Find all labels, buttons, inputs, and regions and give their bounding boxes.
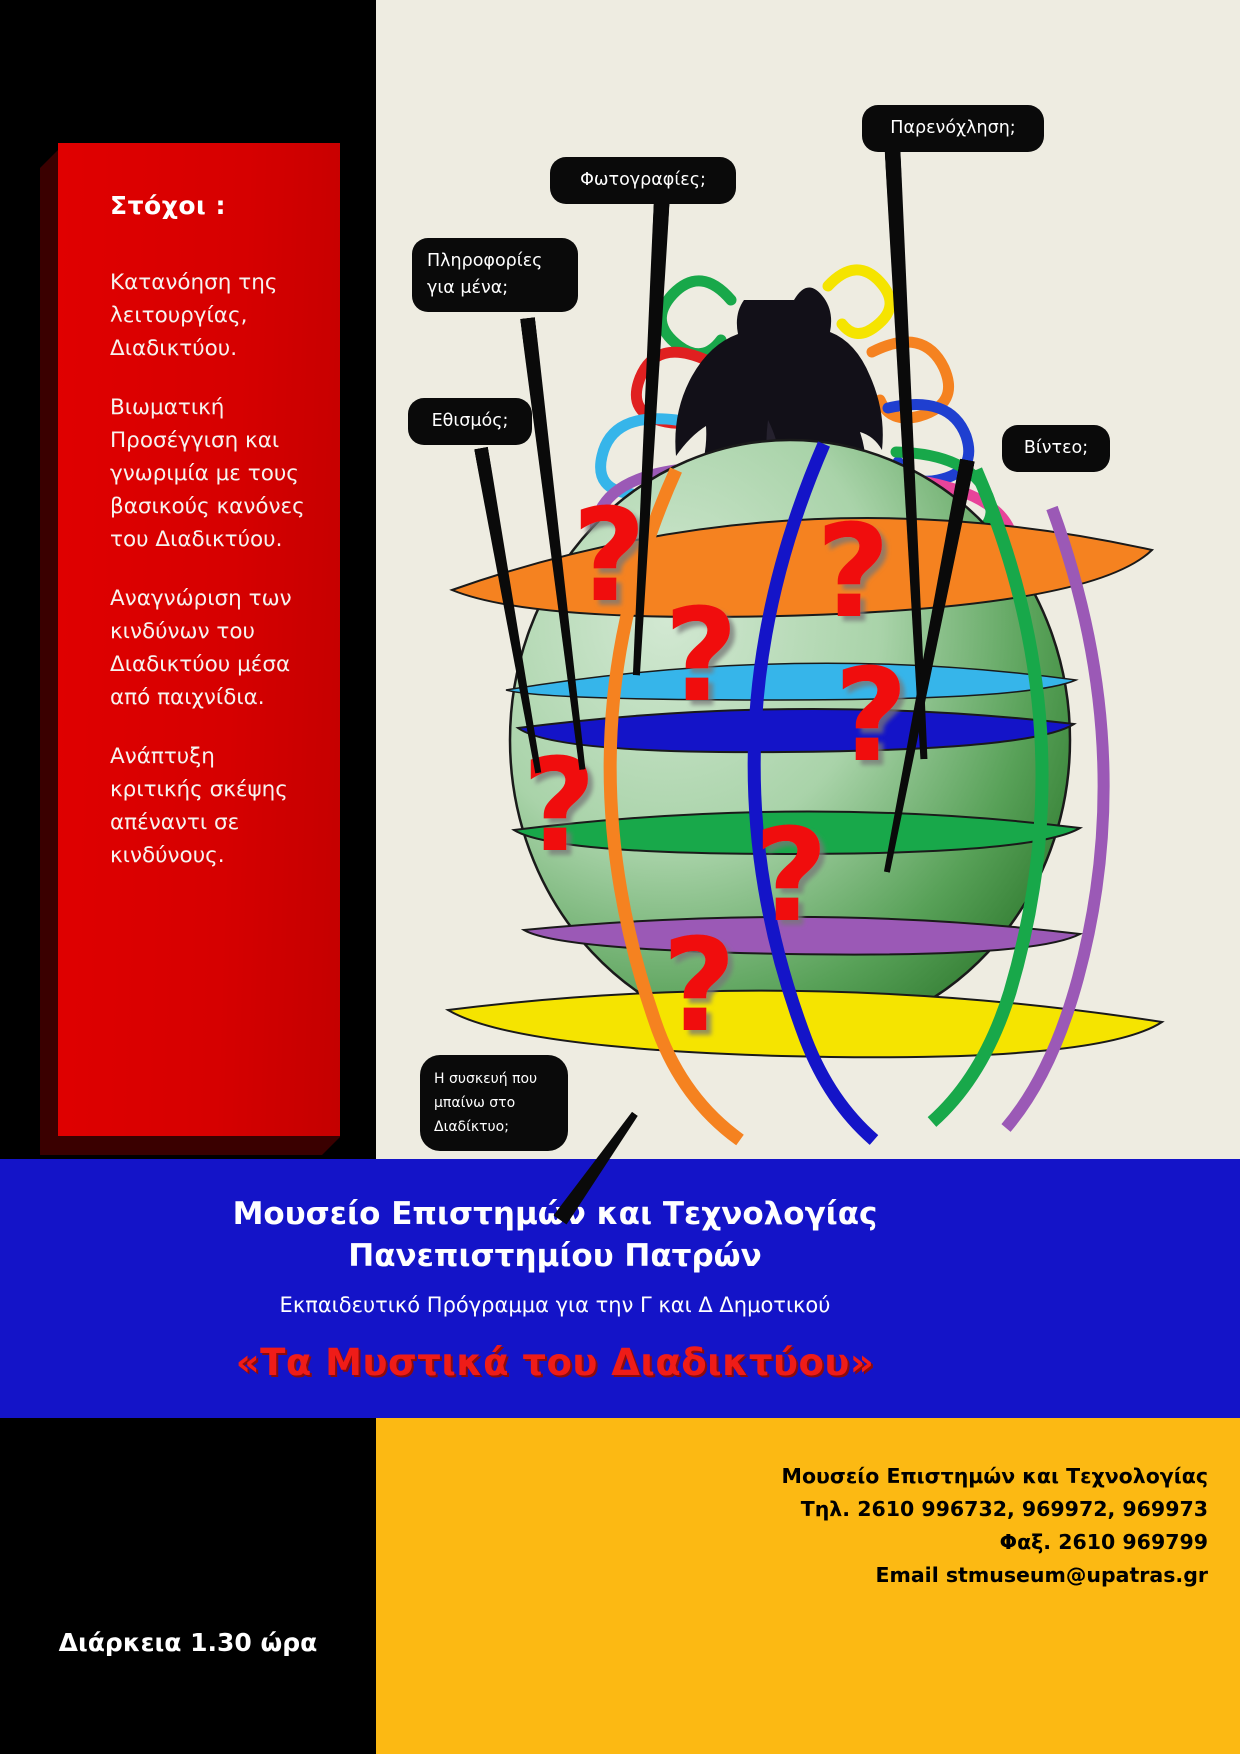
top-area: ? ? ? ? ? ? ? Παρενόχληση; Φωτογραφίες; …: [0, 0, 1240, 1159]
goal-item: Βιωματική Προσέγγιση και γνωριμία με του…: [110, 391, 314, 556]
contact-panel: Μουσείο Επιστημών και Τεχνολογίας Τηλ. 2…: [376, 1418, 1240, 1754]
poster-root: ? ? ? ? ? ? ? Παρενόχληση; Φωτογραφίες; …: [0, 0, 1240, 1754]
goals-card: Στόχοι : Κατανόηση της λειτουργίας, Διαδ…: [58, 143, 340, 1136]
goal-item: Κατανόηση της λειτουργίας, Διαδικτύου.: [110, 266, 314, 365]
goal-item: Αναγνώριση των κινδύνων του Διαδικτύου μ…: [110, 582, 314, 714]
duration-text: Διάρκεια 1.30 ώρα: [0, 1628, 376, 1657]
contact-phone: Τηλ. 2610 996732, 969972, 969973: [782, 1493, 1208, 1526]
svg-text:?: ?: [664, 582, 738, 731]
goals-title: Στόχοι :: [110, 191, 314, 220]
organization-line-2: Πανεπιστημίου Πατρών: [0, 1238, 1110, 1274]
svg-text:?: ?: [572, 482, 646, 631]
contact-name: Μουσείο Επιστημών και Τεχνολογίας: [782, 1460, 1208, 1493]
svg-text:?: ?: [816, 498, 890, 647]
goal-item: Ανάπτυξη κριτικής σκέψης απέναντι σε κιν…: [110, 740, 314, 872]
callout-video[interactable]: Βίντεο;: [1002, 425, 1110, 472]
duration-panel: [0, 1418, 376, 1754]
program-main-title: «Τα Μυστικά του Διαδικτύου»: [0, 1341, 1110, 1384]
contact-fax: Φαξ. 2610 969799: [782, 1526, 1208, 1559]
callout-my-info[interactable]: Πληροφορίες για μένα;: [412, 238, 578, 312]
callout-harassment[interactable]: Παρενόχληση;: [862, 105, 1044, 152]
svg-text:?: ?: [834, 642, 908, 791]
callout-addiction[interactable]: Εθισμός;: [408, 398, 532, 445]
svg-text:?: ?: [754, 802, 828, 951]
callout-photos[interactable]: Φωτογραφίες;: [550, 157, 736, 204]
svg-text:?: ?: [662, 912, 736, 1061]
contact-email[interactable]: Email stmuseum@upatras.gr: [782, 1559, 1208, 1592]
callout-device[interactable]: Η συσκευή που μπαίνω στο Διαδίκτυο;: [420, 1055, 568, 1151]
program-subtitle: Εκπαιδευτικό Πρόγραμμα για την Γ και Δ Δ…: [0, 1293, 1110, 1317]
